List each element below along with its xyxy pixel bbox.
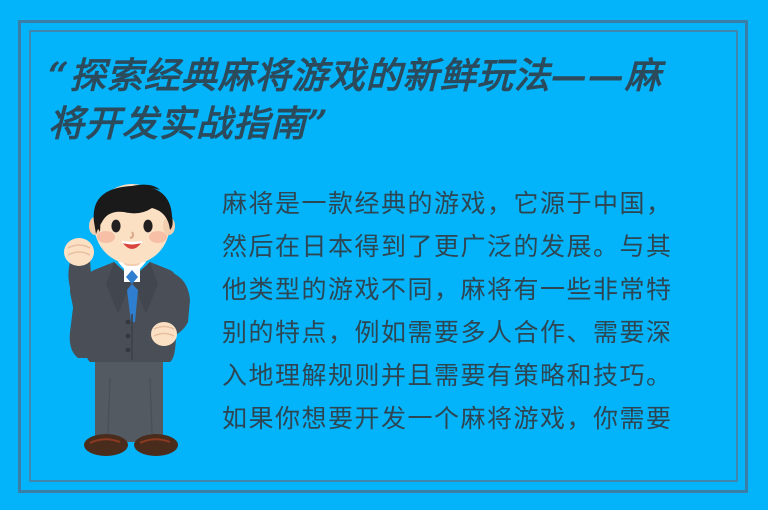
cheek-right-icon [149,231,167,243]
cheek-left-icon [97,231,115,243]
shoe-right-icon [134,434,178,456]
jacket-button-icon [126,348,131,353]
shoe-left-icon [84,434,128,456]
jacket-button-icon [126,320,131,325]
page-title: “探索经典麻将游戏的新鲜玩法——麻 将开发实战指南” [48,52,724,148]
eye-right-icon [143,220,152,233]
title-line-1: “探索经典麻将游戏的新鲜玩法——麻 [48,52,724,100]
businessman-illustration [48,182,218,484]
body-line-6: 如果你想要开发一个麻将游戏，你需要 [222,397,722,440]
body-line-3: 他类型的游戏不同，麻将有一些非常特 [222,268,722,311]
body-line-2: 然后在日本得到了更广泛的发展。与其 [222,225,722,268]
body-line-1: 麻将是一款经典的游戏，它源于中国， [222,182,722,225]
jacket-button-icon [126,334,131,339]
poster-canvas: “探索经典麻将游戏的新鲜玩法——麻 将开发实战指南” 麻将是一款经典的游戏，它源… [0,0,768,510]
body-line-5: 入地理解规则并且需要有策略和技巧。 [222,354,722,397]
title-line-2: 将开发实战指南” [48,100,724,148]
eye-left-icon [111,220,120,233]
body-line-4: 别的特点，例如需要多人合作、需要深 [222,311,722,354]
body-paragraph: 麻将是一款经典的游戏，它源于中国， 然后在日本得到了更广泛的发展。与其 他类型的… [222,182,722,440]
